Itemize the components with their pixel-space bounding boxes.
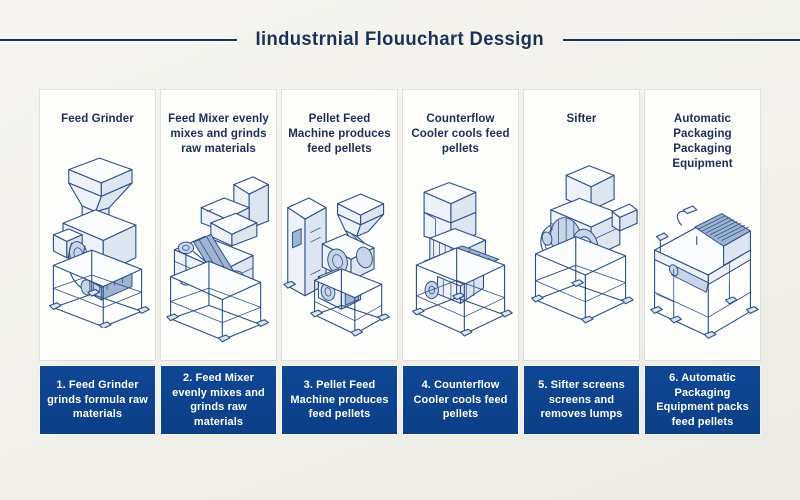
feed-mixer-machine-illustration — [161, 157, 276, 360]
page-title: Iindustrnial Flouuchart Dessign — [256, 29, 545, 51]
flow-step-3: Pellet Feed Machine produces feed pellet… — [282, 90, 397, 434]
step-card-6[interactable]: Automatic Packaging Packaging Equipment — [645, 90, 760, 360]
counterflow-cooler-illustration — [403, 157, 518, 360]
step-card-4[interactable]: Counterflow Cooler cools feed pellets — [403, 90, 518, 360]
flow-step-6: Automatic Packaging Packaging Equipment — [645, 90, 760, 434]
feed-grinder-machine-illustration — [40, 127, 155, 360]
automatic-packaging-equipment-illustration — [645, 172, 760, 360]
step-caption-2: 2. Feed Mixer evenly mixes and grinds ra… — [161, 366, 276, 434]
flowchart-columns: Feed Grinder — [40, 90, 760, 434]
step-heading-2: Feed Mixer evenly mixes and grinds raw m… — [167, 112, 270, 157]
flow-step-1: Feed Grinder — [40, 90, 155, 434]
pellet-feed-machine-illustration — [282, 157, 397, 360]
step-card-2[interactable]: Feed Mixer evenly mixes and grinds raw m… — [161, 90, 276, 360]
page-header: Iindustrnial Flouuchart Dessign — [0, 18, 800, 62]
flow-step-5: Sifter — [524, 90, 639, 434]
step-caption-3: 3. Pellet Feed Machine produces feed pel… — [282, 366, 397, 434]
header-rule-right — [563, 39, 800, 41]
flow-step-2: Feed Mixer evenly mixes and grinds raw m… — [161, 90, 276, 434]
step-caption-5: 5. Sifter screens screens and removes lu… — [524, 366, 639, 434]
sifter-machine-illustration — [524, 127, 639, 360]
step-caption-text-1: 1. Feed Grinder grinds formula raw mater… — [47, 378, 148, 422]
step-heading-3: Pellet Feed Machine produces feed pellet… — [288, 112, 391, 157]
step-caption-text-3: 3. Pellet Feed Machine produces feed pel… — [289, 378, 390, 422]
step-heading-1: Feed Grinder — [61, 112, 134, 127]
step-card-3[interactable]: Pellet Feed Machine produces feed pellet… — [282, 90, 397, 360]
step-heading-5: Sifter — [567, 112, 597, 127]
step-caption-text-5: 5. Sifter screens screens and removes lu… — [531, 378, 632, 422]
step-caption-text-2: 2. Feed Mixer evenly mixes and grinds ra… — [168, 371, 269, 429]
step-caption-6: 6. Automatic Packaging Equipment packs f… — [645, 366, 760, 434]
header-rule-left — [0, 39, 237, 41]
step-caption-1: 1. Feed Grinder grinds formula raw mater… — [40, 366, 155, 434]
step-heading-6: Automatic Packaging Packaging Equipment — [651, 112, 754, 172]
step-caption-text-4: 4. Counterflow Cooler cools feed pellets — [410, 378, 511, 422]
step-caption-text-6: 6. Automatic Packaging Equipment packs f… — [652, 371, 753, 429]
step-card-5[interactable]: Sifter — [524, 90, 639, 360]
step-heading-4: Counterflow Cooler cools feed pellets — [409, 112, 512, 157]
flow-step-4: Counterflow Cooler cools feed pellets — [403, 90, 518, 434]
step-card-1[interactable]: Feed Grinder — [40, 90, 155, 360]
step-caption-4: 4. Counterflow Cooler cools feed pellets — [403, 366, 518, 434]
